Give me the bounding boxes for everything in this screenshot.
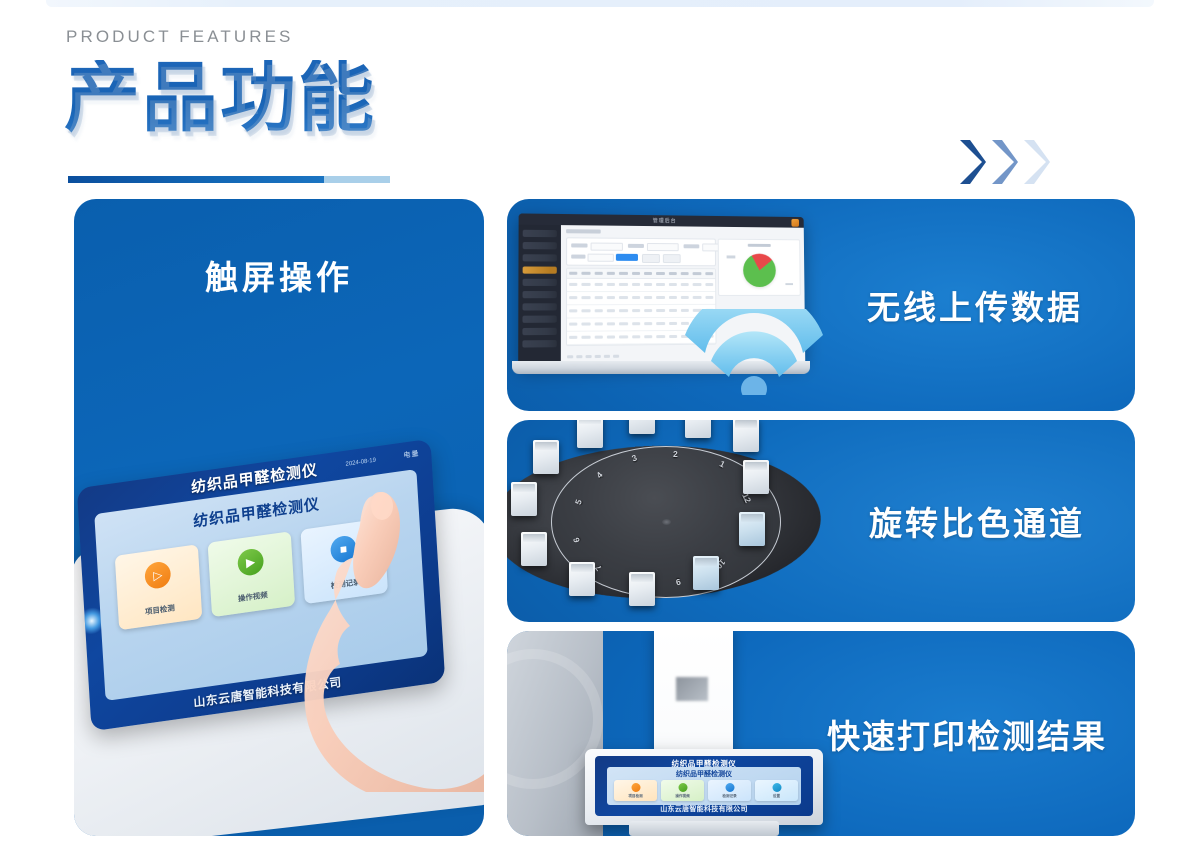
- app-tile-label: 检测记录: [304, 572, 388, 595]
- title-rule-primary: [68, 176, 324, 183]
- pie-chart-panel: [718, 239, 801, 296]
- dashboard-window-title: 管理后台: [653, 217, 677, 224]
- title-rule-secondary: [324, 176, 390, 183]
- app-tile-label: 设置: [755, 794, 798, 799]
- reset-button[interactable]: [642, 254, 660, 263]
- app-tile-operation-video[interactable]: 操作视频: [661, 780, 704, 801]
- sidebar-item[interactable]: [523, 279, 557, 286]
- app-tile-label: 项目检测: [118, 598, 202, 621]
- table-row[interactable]: [567, 279, 715, 292]
- carousel-photo: 1 2 3 4 5 6 7 8 9 10 11 12: [507, 420, 837, 622]
- cuvette: [521, 532, 547, 566]
- feature-card-rotating-channel[interactable]: 1 2 3 4 5 6 7 8 9 10 11 12: [507, 420, 1135, 622]
- app-tile-project-test[interactable]: 项目检测: [614, 780, 657, 801]
- filter-panel[interactable]: [566, 237, 716, 266]
- printer-device-screen: 纺织品甲醛检测仪 纺织品甲醛检测仪 项目检测 操作视频: [595, 756, 813, 816]
- cuvette: [743, 460, 769, 494]
- cuvette: [629, 420, 655, 434]
- feature-card-touchscreen[interactable]: 触屏操作 纺织品甲醛检测仪 2024-08-19 电量 纺织品甲醛检测仪 ▷ 项…: [74, 199, 484, 836]
- chevron-right-icon-2: [988, 136, 1022, 188]
- printer-screen-body: 纺织品甲醛检测仪 项目检测 操作视频: [607, 767, 801, 805]
- sidebar-item[interactable]: [523, 254, 557, 261]
- sidebar-item-active[interactable]: [523, 266, 557, 273]
- sidebar-item[interactable]: [522, 316, 556, 323]
- app-tile-label: 项目检测: [614, 794, 657, 799]
- sidebar-item[interactable]: [523, 242, 557, 249]
- breadcrumb: [566, 229, 601, 233]
- sidebar-item[interactable]: [522, 340, 556, 348]
- sidebar-item[interactable]: [522, 328, 556, 335]
- app-tile-label: 操作视频: [211, 585, 295, 608]
- feature-title-fast-print: 快速打印检测结果: [827, 710, 1107, 758]
- channel-number: 4: [594, 470, 604, 480]
- app-tile-label: 检测记录: [708, 794, 751, 799]
- flask-icon: [631, 783, 640, 792]
- tablet-device-photo: 纺织品甲醛检测仪 2024-08-19 电量 纺织品甲醛检测仪 ▷ 项目检测 ▶…: [74, 440, 484, 836]
- channel-number: 1: [718, 458, 727, 469]
- flask-icon: ▷: [144, 560, 171, 590]
- cuvette: [533, 440, 559, 474]
- search-button[interactable]: [616, 254, 638, 261]
- cuvette: [511, 482, 537, 516]
- app-tile-label: 操作视频: [661, 794, 704, 799]
- sidebar-item[interactable]: [523, 291, 557, 298]
- video-icon: ▶: [237, 547, 264, 577]
- pie-chart-title: [748, 244, 771, 247]
- sidebar-item[interactable]: [523, 230, 557, 237]
- pagination[interactable]: [567, 355, 619, 359]
- channel-number: 5: [573, 498, 584, 506]
- page-header: PRODUCT FEATURES 产品功能: [66, 28, 1136, 188]
- feature-title-touchscreen: 触屏操作: [74, 251, 484, 299]
- export-button[interactable]: [663, 254, 681, 263]
- wifi-icon: [679, 309, 829, 395]
- channel-number: 3: [630, 452, 638, 463]
- printer-photo: 纺织品甲醛检测仪 纺织品甲醛检测仪 项目检测 操作视频: [507, 631, 857, 836]
- printer-device-stand: [629, 821, 779, 836]
- chevron-right-icon-1: [956, 136, 990, 188]
- dashboard-sidebar[interactable]: [518, 225, 561, 366]
- chevron-group: [956, 136, 1086, 188]
- app-tile-project-test[interactable]: ▷ 项目检测: [115, 544, 203, 630]
- top-accent-band: [46, 0, 1154, 7]
- sidebar-item[interactable]: [523, 303, 557, 310]
- record-icon: ■: [330, 534, 357, 564]
- cuvette: [733, 420, 759, 452]
- cuvette: [577, 420, 603, 448]
- carousel-hub: [662, 519, 671, 525]
- pie-legend-pass: [785, 283, 793, 285]
- channel-number: 9: [675, 577, 682, 588]
- printer-device: 纺织品甲醛检测仪 纺织品甲醛检测仪 项目检测 操作视频: [585, 749, 823, 825]
- app-tile-test-records[interactable]: ■ 检测记录: [300, 518, 388, 604]
- printer-app-tiles: 项目检测 操作视频 检测记录: [614, 780, 798, 801]
- table-header-row: [567, 269, 715, 279]
- channel-number: 2: [673, 449, 678, 459]
- product-features-page: PRODUCT FEATURES 产品功能 触屏操作 纺织品甲醛检测仪 2024…: [0, 0, 1200, 851]
- video-icon: [678, 783, 687, 792]
- feature-title-wireless-upload: 无线上传数据: [867, 281, 1083, 329]
- cuvette: [569, 562, 595, 596]
- app-tile-operation-video[interactable]: ▶ 操作视频: [208, 531, 296, 617]
- app-tile-settings[interactable]: 设置: [755, 780, 798, 801]
- page-title: 产品功能: [64, 60, 376, 136]
- feature-card-wireless-upload[interactable]: 管理后台: [507, 199, 1135, 411]
- pie-chart: [743, 254, 776, 287]
- gear-icon: [772, 783, 781, 792]
- receipt-barcode: [676, 677, 708, 701]
- eyebrow-label: PRODUCT FEATURES: [66, 28, 1136, 45]
- table-row[interactable]: [567, 292, 715, 305]
- feature-card-fast-print[interactable]: 纺织品甲醛检测仪 纺织品甲醛检测仪 项目检测 操作视频: [507, 631, 1135, 836]
- record-icon: [725, 783, 734, 792]
- cuvette: [693, 556, 719, 590]
- avatar[interactable]: [791, 218, 799, 226]
- cuvette: [629, 572, 655, 606]
- app-tile-test-records[interactable]: 检测记录: [708, 780, 751, 801]
- cuvette: [739, 512, 765, 546]
- cuvette: [685, 420, 711, 438]
- printer-screen-subtitle: 纺织品甲醛检测仪: [607, 769, 801, 779]
- feature-title-rotating-channel: 旋转比色通道: [869, 497, 1085, 545]
- pie-legend-fail: [727, 255, 736, 258]
- device-screen: 纺织品甲醛检测仪 2024-08-19 电量 纺织品甲醛检测仪 ▷ 项目检测 ▶…: [77, 439, 446, 732]
- channel-number: 6: [571, 536, 582, 543]
- chevron-right-icon-3: [1020, 136, 1054, 188]
- printer-screen-footer: 山东云唐智能科技有限公司: [595, 804, 813, 814]
